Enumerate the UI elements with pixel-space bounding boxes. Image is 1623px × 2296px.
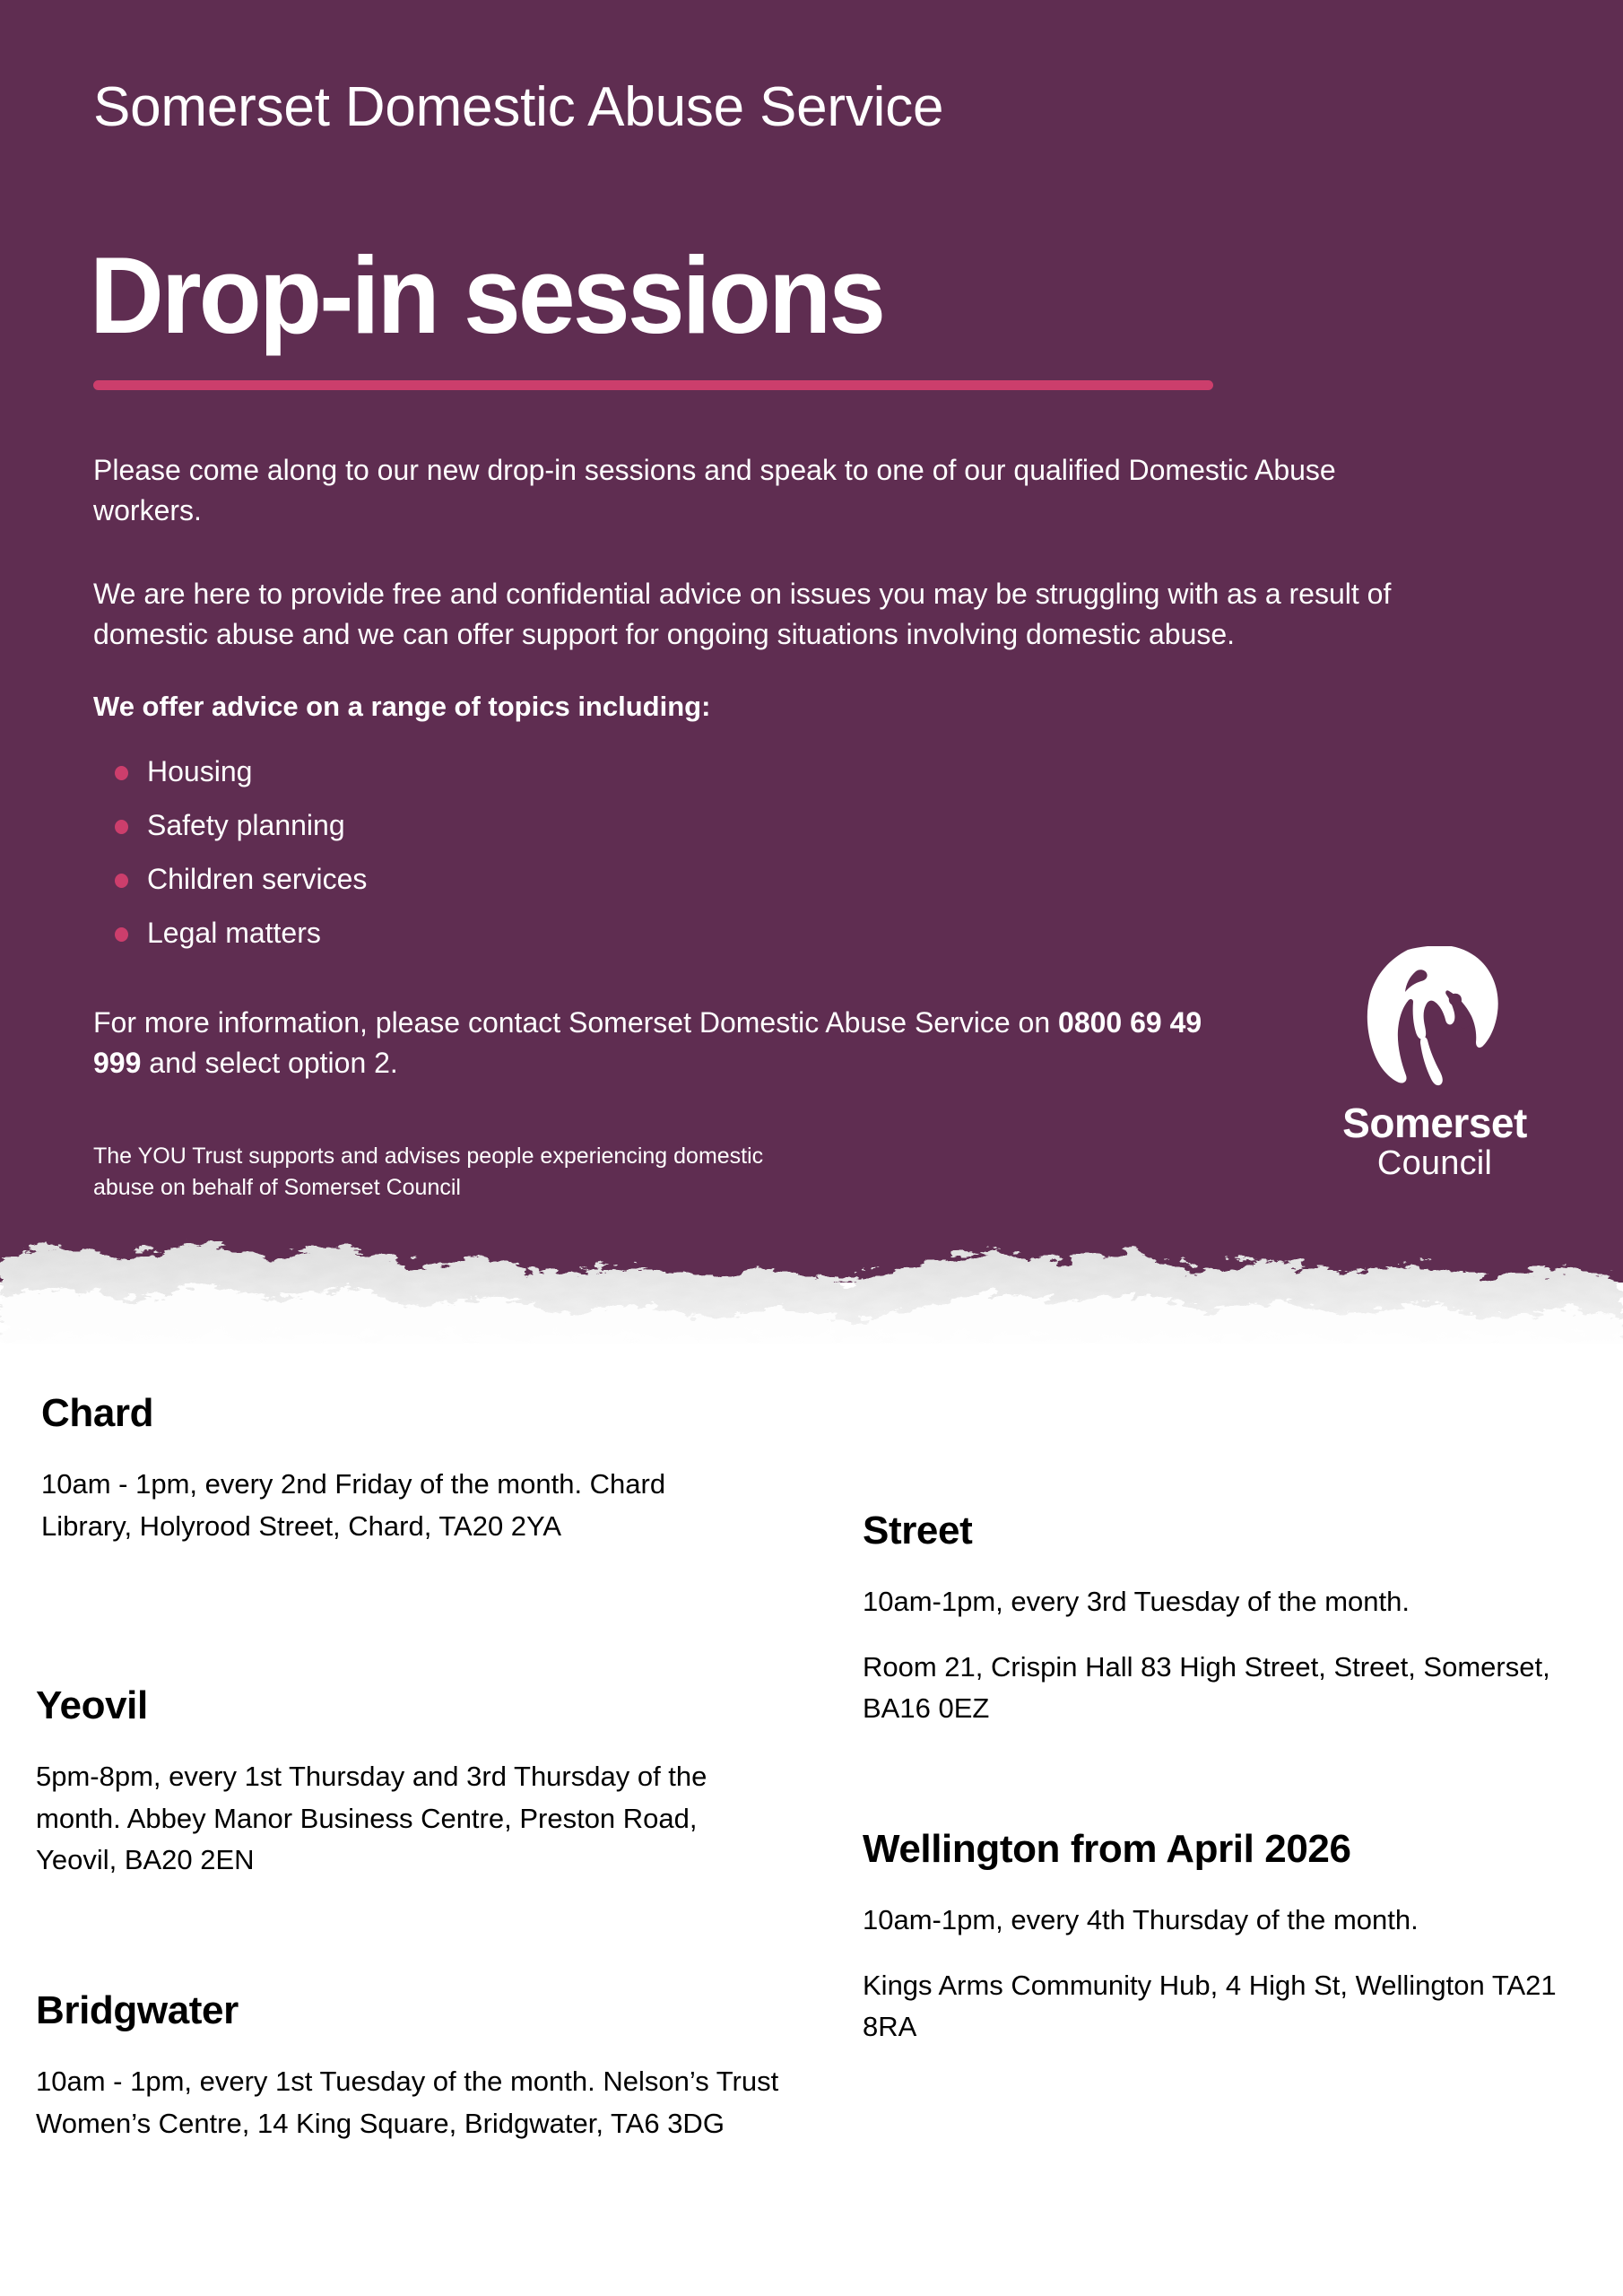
somerset-dragon-icon bbox=[1359, 946, 1510, 1095]
heading-underline-rule bbox=[93, 380, 1213, 390]
list-item: Children services bbox=[93, 852, 367, 906]
location-card-bridgwater: Bridgwater 10am - 1pm, every 1st Tuesday… bbox=[36, 1991, 825, 2144]
location-card-yeovil: Yeovil 5pm-8pm, every 1st Thursday and 3… bbox=[36, 1686, 780, 1882]
topic-label: Housing bbox=[147, 755, 252, 787]
bullet-dot-icon bbox=[115, 766, 128, 780]
locations-section: Chard 10am - 1pm, every 2nd Friday of th… bbox=[0, 1372, 1623, 2296]
location-name: Street bbox=[863, 1511, 1571, 1551]
logo-wordmark-secondary: Council bbox=[1318, 1145, 1551, 1183]
location-name: Bridgwater bbox=[36, 1991, 825, 2031]
disclaimer-text: The YOU Trust supports and advises peopl… bbox=[93, 1141, 811, 1203]
location-card-chard: Chard 10am - 1pm, every 2nd Friday of th… bbox=[41, 1394, 723, 1547]
somerset-council-logo: Somerset Council bbox=[1318, 946, 1551, 1183]
bullet-dot-icon bbox=[115, 874, 128, 888]
location-card-street: Street 10am-1pm, every 3rd Tuesday of th… bbox=[863, 1511, 1571, 1730]
location-address: Room 21, Crispin Hall 83 High Street, St… bbox=[863, 1647, 1571, 1730]
logo-wordmark-primary: Somerset bbox=[1318, 1102, 1551, 1145]
contact-prefix: For more information, please contact Som… bbox=[93, 1006, 1058, 1039]
list-item: Safety planning bbox=[93, 798, 367, 852]
bullet-dot-icon bbox=[115, 927, 128, 942]
bullet-dot-icon bbox=[115, 820, 128, 834]
location-details: 10am - 1pm, every 1st Tuesday of the mon… bbox=[36, 2061, 825, 2144]
location-address: Kings Arms Community Hub, 4 High St, Wel… bbox=[863, 1965, 1589, 2048]
intro-paragraph-2: We are here to provide free and confiden… bbox=[93, 574, 1420, 655]
page-title: Somerset Domestic Abuse Service bbox=[93, 75, 943, 139]
topic-label: Children services bbox=[147, 863, 367, 895]
contact-paragraph: For more information, please contact Som… bbox=[93, 1003, 1214, 1084]
location-details: 5pm-8pm, every 1st Thursday and 3rd Thur… bbox=[36, 1756, 780, 1882]
location-schedule: 10am-1pm, every 3rd Tuesday of the month… bbox=[863, 1581, 1571, 1623]
list-item: Housing bbox=[93, 744, 367, 798]
hero-panel: Somerset Domestic Abuse Service Drop-in … bbox=[0, 0, 1623, 1283]
main-heading: Drop-in sessions bbox=[90, 240, 883, 350]
location-name: Yeovil bbox=[36, 1686, 780, 1726]
topics-list: Housing Safety planning Children service… bbox=[93, 744, 367, 960]
location-card-wellington: Wellington from April 2026 10am-1pm, eve… bbox=[863, 1830, 1589, 2048]
topics-lead-in: We offer advice on a range of topics inc… bbox=[93, 691, 710, 723]
poster-canvas: Somerset Domestic Abuse Service Drop-in … bbox=[0, 0, 1623, 2296]
location-schedule: 10am-1pm, every 4th Thursday of the mont… bbox=[863, 1900, 1589, 1942]
location-name: Chard bbox=[41, 1394, 723, 1433]
list-item: Legal matters bbox=[93, 906, 367, 960]
intro-paragraph-1: Please come along to our new drop-in ses… bbox=[93, 450, 1420, 531]
location-name: Wellington from April 2026 bbox=[863, 1830, 1589, 1869]
contact-suffix: and select option 2. bbox=[141, 1047, 397, 1079]
location-details: 10am - 1pm, every 2nd Friday of the mont… bbox=[41, 1464, 723, 1547]
topic-label: Safety planning bbox=[147, 809, 345, 841]
topic-label: Legal matters bbox=[147, 917, 321, 949]
